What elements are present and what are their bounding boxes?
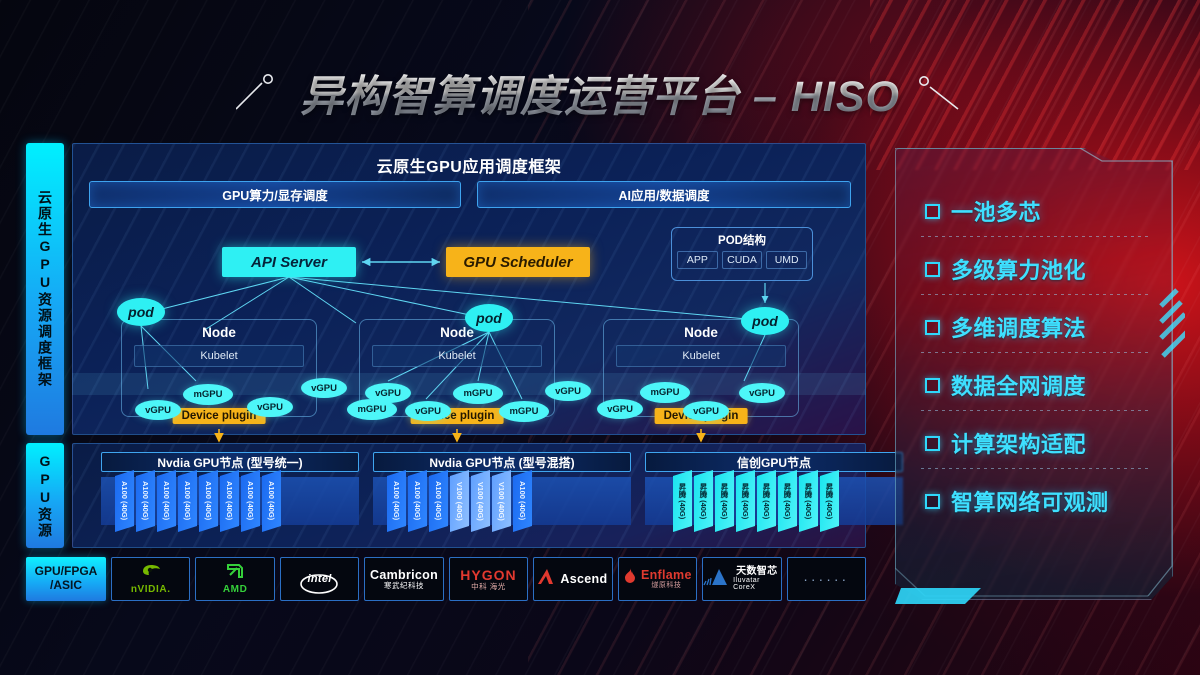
page-title: 异构智算调度运营平台 – HISO xyxy=(300,62,900,124)
checkbox-square-icon xyxy=(925,494,940,509)
vgpu-bubble[interactable]: vGPU xyxy=(405,401,451,421)
vendor-name: 天数智芯 xyxy=(736,567,777,577)
vendor-name: nVIDIA. xyxy=(131,585,171,595)
feature-bullet[interactable]: 数据全网调度 xyxy=(895,356,1173,414)
ellipsis-icon: ······ xyxy=(803,571,849,587)
intel-oval-icon xyxy=(299,574,339,599)
feature-bullet[interactable]: 智算网络可观测 xyxy=(895,472,1173,530)
amd-arrow-icon xyxy=(226,563,244,584)
vendor-logo-hygon[interactable]: HYGON中科 海光 xyxy=(449,557,528,601)
vendor-logo-nvidia[interactable]: nVIDIA. xyxy=(111,557,190,601)
vendor-tab-line2: /ASIC xyxy=(50,579,82,593)
vendor-subname: 寒武纪科技 xyxy=(384,582,424,590)
feature-bullet-label: 多级算力池化 xyxy=(951,253,1086,285)
architecture-diagram: 云原生GPU资源调度框架 GPU资源 云原生GPU应用调度框架 GPU算力/显存… xyxy=(26,141,866,606)
vgpu-bubble[interactable]: vGPU xyxy=(739,383,785,403)
vgpu-bubble[interactable]: vGPU xyxy=(597,399,643,419)
vendor-logo-intel[interactable]: intel xyxy=(280,557,359,601)
feature-bullet[interactable]: 多维调度算法 xyxy=(895,298,1173,356)
checkbox-square-icon xyxy=(925,320,940,335)
vgpu-bubble[interactable]: vGPU xyxy=(301,378,347,398)
vgpu-bubble[interactable]: vGPU xyxy=(365,383,411,403)
title-bar: 异构智算调度运营平台 – HISO xyxy=(0,58,1200,128)
vendor-row-tab[interactable]: GPU/FPGA /ASIC xyxy=(26,557,106,601)
vendor-name: Ascend xyxy=(560,573,607,586)
vendor-tab-line1: GPU/FPGA xyxy=(35,565,98,579)
feature-bullet[interactable]: 多级算力池化 xyxy=(895,240,1173,298)
checkbox-square-icon xyxy=(925,378,940,393)
feature-bullet-label: 一池多芯 xyxy=(951,195,1041,227)
vendor-subname: 燧原科技 xyxy=(651,582,681,589)
vendor-logo-amd[interactable]: AMD xyxy=(195,557,274,601)
vendor-logo-more[interactable]: ······ xyxy=(787,557,866,601)
mgpu-bubble[interactable]: mGPU xyxy=(499,401,549,422)
feature-bullet-label: 数据全网调度 xyxy=(951,369,1086,401)
features-bullet-list: 一池多芯多级算力池化多维调度算法数据全网调度计算架构适配智算网络可观测 xyxy=(895,148,1173,600)
vendor-logo-row: GPU/FPGA /ASIC nVIDIA.AMDintelCambricon寒… xyxy=(26,557,866,601)
vgpu-bubble[interactable]: vGPU xyxy=(545,381,591,401)
gpu-bubble-layer: vGPUmGPUvGPUvGPUmGPUvGPUvGPUmGPUmGPUvGPU… xyxy=(26,141,866,606)
feature-bullet-label: 计算架构适配 xyxy=(951,427,1086,459)
vendor-name: AMD xyxy=(223,585,248,595)
vendor-name: HYGON xyxy=(460,568,516,582)
checkbox-square-icon xyxy=(925,436,940,451)
iluvatar-fan-icon xyxy=(703,568,729,591)
vendor-subname: Iluvatar CoreX xyxy=(733,577,780,591)
mgpu-bubble[interactable]: mGPU xyxy=(183,384,233,405)
mgpu-bubble[interactable]: mGPU xyxy=(640,382,690,403)
feature-bullet-label: 多维调度算法 xyxy=(951,311,1086,343)
mgpu-bubble[interactable]: mGPU xyxy=(453,383,503,404)
feature-bullet[interactable]: 一池多芯 xyxy=(895,182,1173,240)
vendor-logo-cambricon[interactable]: Cambricon寒武纪科技 xyxy=(364,557,443,601)
vendor-logo-iluvatar[interactable]: 天数智芯Iluvatar CoreX xyxy=(702,557,781,601)
vendor-subname: 中科 海光 xyxy=(471,583,506,591)
feature-bullet-label: 智算网络可观测 xyxy=(951,485,1109,517)
vendor-name: Cambricon xyxy=(370,569,438,582)
enflame-flame-icon xyxy=(623,568,637,591)
checkbox-square-icon xyxy=(925,262,940,277)
slide-canvas: 异构智算调度运营平台 – HISO 云原生GPU资源调度框架 GPU资源 云原生… xyxy=(0,0,1200,675)
title-right-tick-icon xyxy=(914,73,964,113)
vendor-name: Enflame xyxy=(641,569,692,582)
nvidia-eye-icon xyxy=(140,563,162,584)
vgpu-bubble[interactable]: vGPU xyxy=(135,400,181,420)
vendor-logo-enflame[interactable]: Enflame燧原科技 xyxy=(618,557,697,601)
feature-bullet[interactable]: 计算架构适配 xyxy=(895,414,1173,472)
checkbox-square-icon xyxy=(925,204,940,219)
vgpu-bubble[interactable]: vGPU xyxy=(683,401,729,421)
vgpu-bubble[interactable]: vGPU xyxy=(247,397,293,417)
vendor-logo-ascend[interactable]: Ascend xyxy=(533,557,612,601)
title-left-tick-icon xyxy=(236,73,286,113)
ascend-a-icon xyxy=(538,568,556,590)
